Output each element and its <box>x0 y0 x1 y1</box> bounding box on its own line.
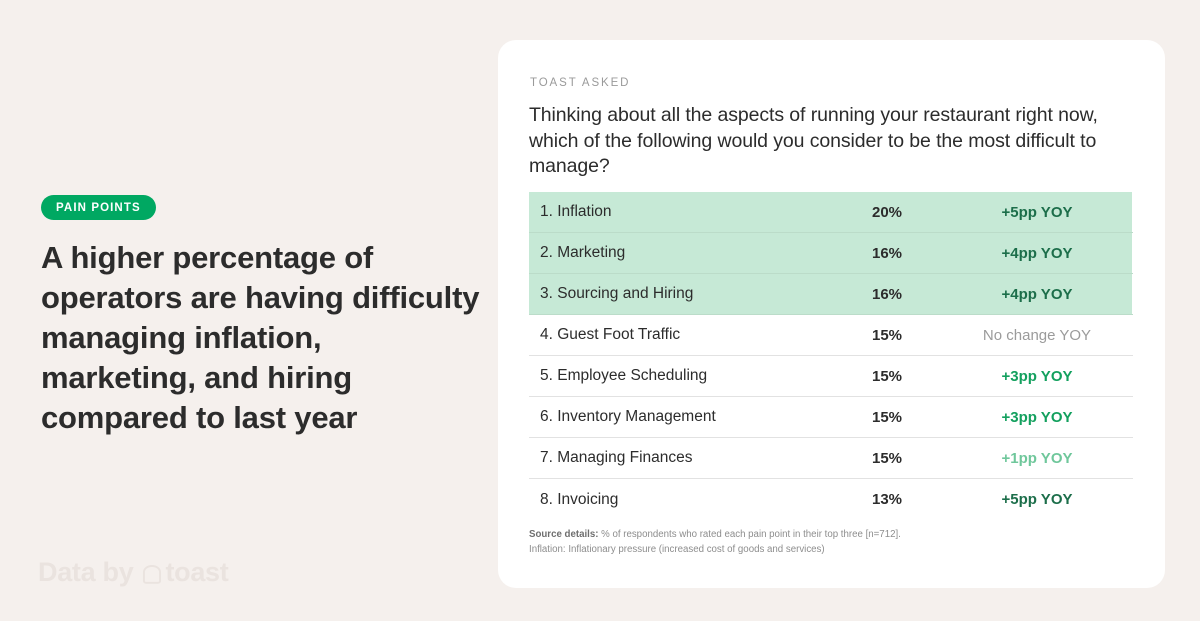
pain-point-label: 6. Inventory Management <box>529 408 855 426</box>
source-line-2: Inflation: Inflationary pressure (increa… <box>529 542 1129 557</box>
toast-bread-icon <box>141 564 163 586</box>
pain-point-yoy-change: +3pp YOY <box>975 409 1133 426</box>
survey-card: TOAST ASKED Thinking about all the aspec… <box>498 40 1165 588</box>
pain-point-label: 7. Managing Finances <box>529 449 855 467</box>
pain-point-yoy-change: +3pp YOY <box>975 368 1133 385</box>
pain-point-label: 8. Invoicing <box>529 491 855 509</box>
pain-point-label: 2. Marketing <box>529 244 855 262</box>
table-row: 8. Invoicing13%+5pp YOY <box>529 479 1133 520</box>
page-title: A higher percentage of operators are hav… <box>41 238 481 438</box>
pain-point-percentage: 13% <box>855 491 975 508</box>
table-row: 1. Inflation20%+5pp YOY <box>529 192 1133 233</box>
status-badge: PAIN POINTS <box>41 195 156 220</box>
pain-point-percentage: 15% <box>855 409 975 426</box>
pain-point-percentage: 16% <box>855 286 975 303</box>
pain-point-label: 4. Guest Foot Traffic <box>529 326 855 344</box>
table-row: 2. Marketing16%+4pp YOY <box>529 233 1133 274</box>
pain-points-table: 1. Inflation20%+5pp YOY2. Marketing16%+4… <box>529 192 1133 520</box>
card-eyebrow: TOAST ASKED <box>530 77 630 89</box>
pain-point-yoy-change: +5pp YOY <box>975 491 1133 508</box>
source-label: Source details: <box>529 529 598 540</box>
badge-label: PAIN POINTS <box>56 202 141 214</box>
logo-text-prefix: Data by <box>38 557 133 588</box>
pain-point-yoy-change: +5pp YOY <box>975 204 1133 221</box>
pain-point-percentage: 15% <box>855 450 975 467</box>
pain-point-percentage: 15% <box>855 327 975 344</box>
left-panel: PAIN POINTS A higher percentage of opera… <box>0 0 498 621</box>
source-text-1: % of respondents who rated each pain poi… <box>598 529 900 540</box>
source-line-1: Source details: % of respondents who rat… <box>529 527 1129 542</box>
pain-point-yoy-change: +4pp YOY <box>975 286 1133 303</box>
survey-question: Thinking about all the aspects of runnin… <box>529 103 1137 180</box>
table-row: 7. Managing Finances15%+1pp YOY <box>529 438 1133 479</box>
pain-point-label: 5. Employee Scheduling <box>529 367 855 385</box>
pain-point-label: 3. Sourcing and Hiring <box>529 285 855 303</box>
pain-point-percentage: 16% <box>855 245 975 262</box>
logo-text-suffix: toast <box>165 557 228 588</box>
pain-point-yoy-change: +4pp YOY <box>975 245 1133 262</box>
data-by-toast-logo: Data by toast <box>38 557 228 588</box>
table-row: 3. Sourcing and Hiring16%+4pp YOY <box>529 274 1133 315</box>
pain-point-percentage: 20% <box>855 204 975 221</box>
table-row: 4. Guest Foot Traffic15%No change YOY <box>529 315 1133 356</box>
table-row: 5. Employee Scheduling15%+3pp YOY <box>529 356 1133 397</box>
source-details: Source details: % of respondents who rat… <box>529 527 1129 557</box>
pain-point-yoy-change: No change YOY <box>975 327 1133 344</box>
table-row: 6. Inventory Management15%+3pp YOY <box>529 397 1133 438</box>
pain-point-yoy-change: +1pp YOY <box>975 450 1133 467</box>
pain-point-label: 1. Inflation <box>529 203 855 221</box>
pain-point-percentage: 15% <box>855 368 975 385</box>
